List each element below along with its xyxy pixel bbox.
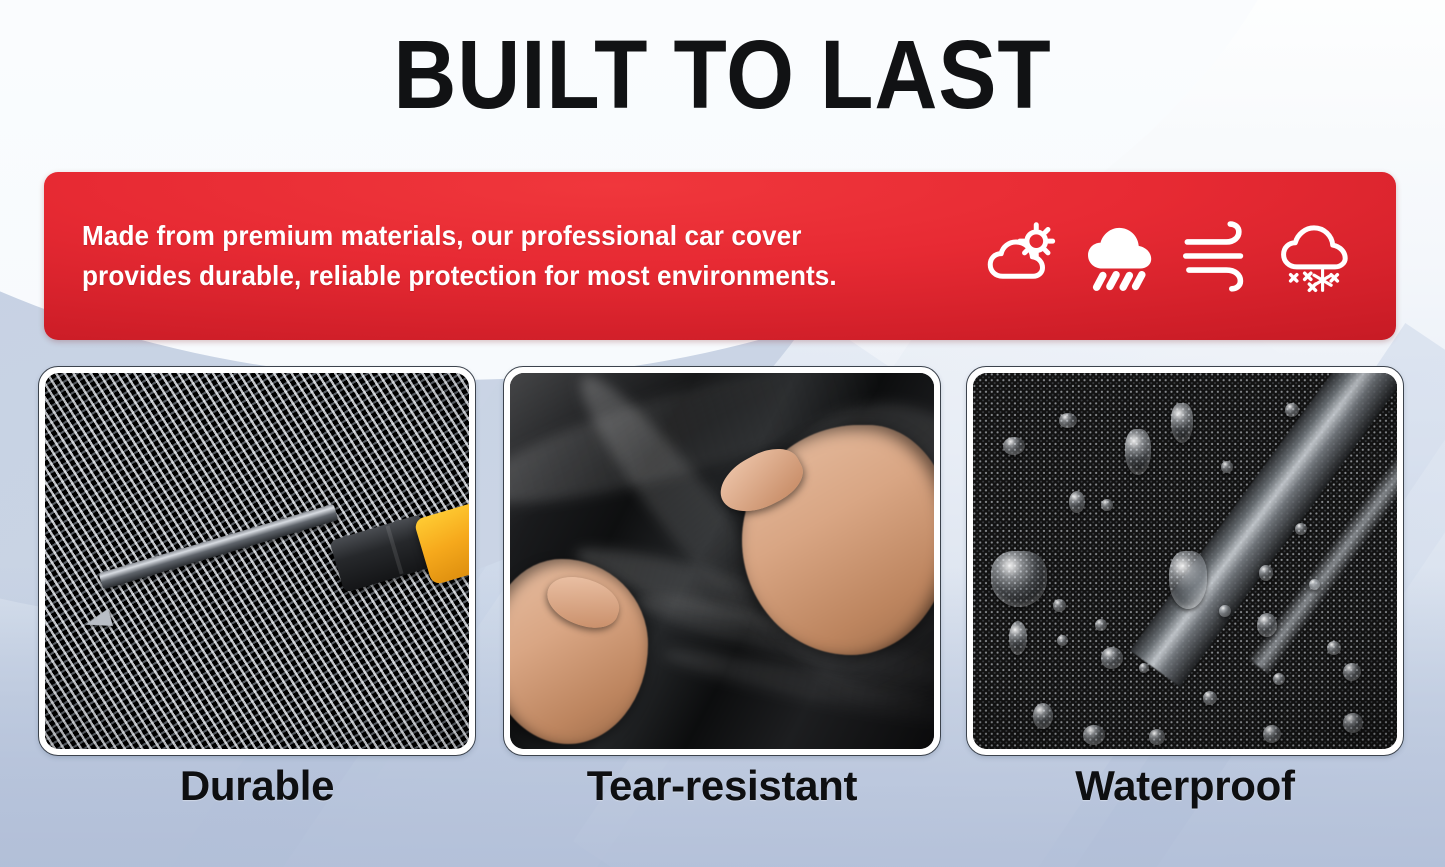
feature-card-durable [38, 366, 476, 756]
rain-cloud-icon [1081, 217, 1159, 295]
feature-label-row: Durable Tear-resistant Waterproof [0, 762, 1445, 832]
screwdriver-on-woven-fabric-photo [45, 373, 469, 749]
feature-label-waterproof: Waterproof [966, 762, 1404, 810]
feature-card-tear-resistant [503, 366, 941, 756]
snow-cloud-icon [1275, 217, 1353, 295]
feature-label-durable: Durable [38, 762, 476, 810]
wind-icon [1178, 217, 1256, 295]
infographic-canvas: BUILT TO LAST Made from premium material… [0, 0, 1445, 867]
sun-behind-cloud-icon [984, 217, 1062, 295]
description-banner: Made from premium materials, our profess… [44, 172, 1396, 340]
photo-vignette [973, 373, 1397, 749]
banner-description: Made from premium materials, our profess… [44, 216, 918, 296]
feature-label-tear-resistant: Tear-resistant [503, 762, 941, 810]
page-title: BUILT TO LAST [72, 24, 1373, 126]
water-beads-on-fabric-photo [973, 373, 1397, 749]
weather-icon-row [964, 217, 1396, 295]
hands-stretching-black-cover-photo [510, 373, 934, 749]
feature-card-row [0, 366, 1445, 758]
feature-card-waterproof [966, 366, 1404, 756]
